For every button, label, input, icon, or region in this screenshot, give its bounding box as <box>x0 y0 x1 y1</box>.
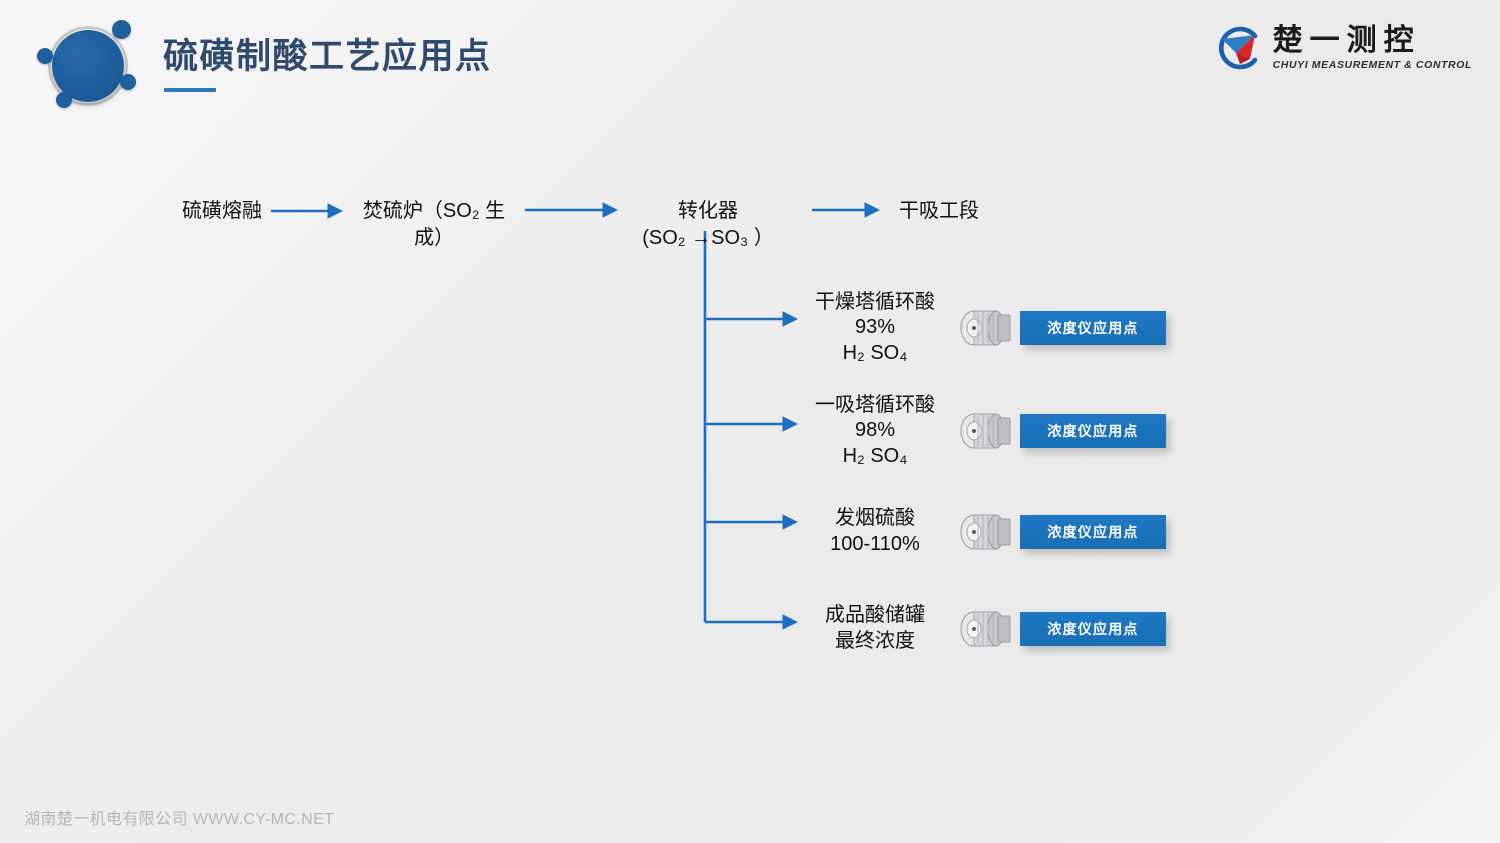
badge-label: 浓度仪应用点 <box>1047 522 1138 542</box>
flow-node-drying-absorption: 干吸工段 <box>874 198 1004 225</box>
flow-connectors <box>0 0 1500 843</box>
decor-dot-bottom-right <box>120 74 136 90</box>
badge-label: 浓度仪应用点 <box>1047 318 1138 338</box>
slide-root: 硫磺制酸工艺应用点 楚一测控 CHUYI MEASUREMENT & CONTR… <box>0 0 1500 843</box>
application-point-badge[interactable]: 浓度仪应用点 <box>1020 612 1166 646</box>
branch-row: 发烟硫酸 100-110% 浓度仪应用点 <box>800 492 1170 572</box>
brand-name-en: CHUYI MEASUREMENT & CONTROL <box>1273 59 1472 71</box>
decor-dot-bottom <box>56 92 72 108</box>
decor-dot-left <box>37 48 53 64</box>
flow-node-sulfur-furnace: 焚硫炉（SO₂ 生 成） <box>348 198 520 252</box>
application-point-badge[interactable]: 浓度仪应用点 <box>1020 311 1166 345</box>
branch-row: 成品酸储罐 最终浓度 浓度仪应用点 <box>800 589 1170 669</box>
flow-node-converter: 转化器 (SO₂ →SO₃ ） <box>620 198 796 252</box>
badge-label: 浓度仪应用点 <box>1047 619 1138 639</box>
page-title: 硫磺制酸工艺应用点 <box>163 28 492 79</box>
chuyi-swoosh-logo-icon <box>1209 26 1263 70</box>
branch-label-product-acid-tank: 成品酸储罐 最终浓度 <box>800 603 950 654</box>
concentration-sensor-icon <box>958 407 1016 455</box>
branch-row: 一吸塔循环酸 98% H₂ SO₄ 浓度仪应用点 <box>800 391 1170 471</box>
title-accent-bar <box>164 88 216 92</box>
circle-nodes-icon <box>28 12 144 112</box>
application-point-badge[interactable]: 浓度仪应用点 <box>1020 515 1166 549</box>
flow-node-sulfur-melting: 硫磺熔融 <box>152 198 292 225</box>
footer-company-info: 湖南楚一机电有限公司 WWW.CY-MC.NET <box>24 805 334 829</box>
concentration-sensor-icon <box>958 508 1016 556</box>
concentration-sensor-icon <box>958 304 1016 352</box>
decor-dot-top-right <box>112 20 131 39</box>
application-point-badge[interactable]: 浓度仪应用点 <box>1020 414 1166 448</box>
brand-text-block: 楚一测控 CHUYI MEASUREMENT & CONTROL <box>1273 25 1472 71</box>
branch-label-first-absorber: 一吸塔循环酸 98% H₂ SO₄ <box>800 393 950 470</box>
slide-header: 硫磺制酸工艺应用点 楚一测控 CHUYI MEASUREMENT & CONTR… <box>0 0 1500 120</box>
branch-label-oleum: 发烟硫酸 100-110% <box>800 506 950 557</box>
branch-label-drying-tower: 干燥塔循环酸 93% H₂ SO₄ <box>800 290 950 367</box>
brand-name-cn: 楚一测控 <box>1273 25 1472 57</box>
branch-row: 干燥塔循环酸 93% H₂ SO₄ 浓度仪应用点 <box>800 288 1170 368</box>
brand-logo: 楚一测控 CHUYI MEASUREMENT & CONTROL <box>1209 18 1472 78</box>
badge-label: 浓度仪应用点 <box>1047 421 1138 441</box>
concentration-sensor-icon <box>958 605 1016 653</box>
